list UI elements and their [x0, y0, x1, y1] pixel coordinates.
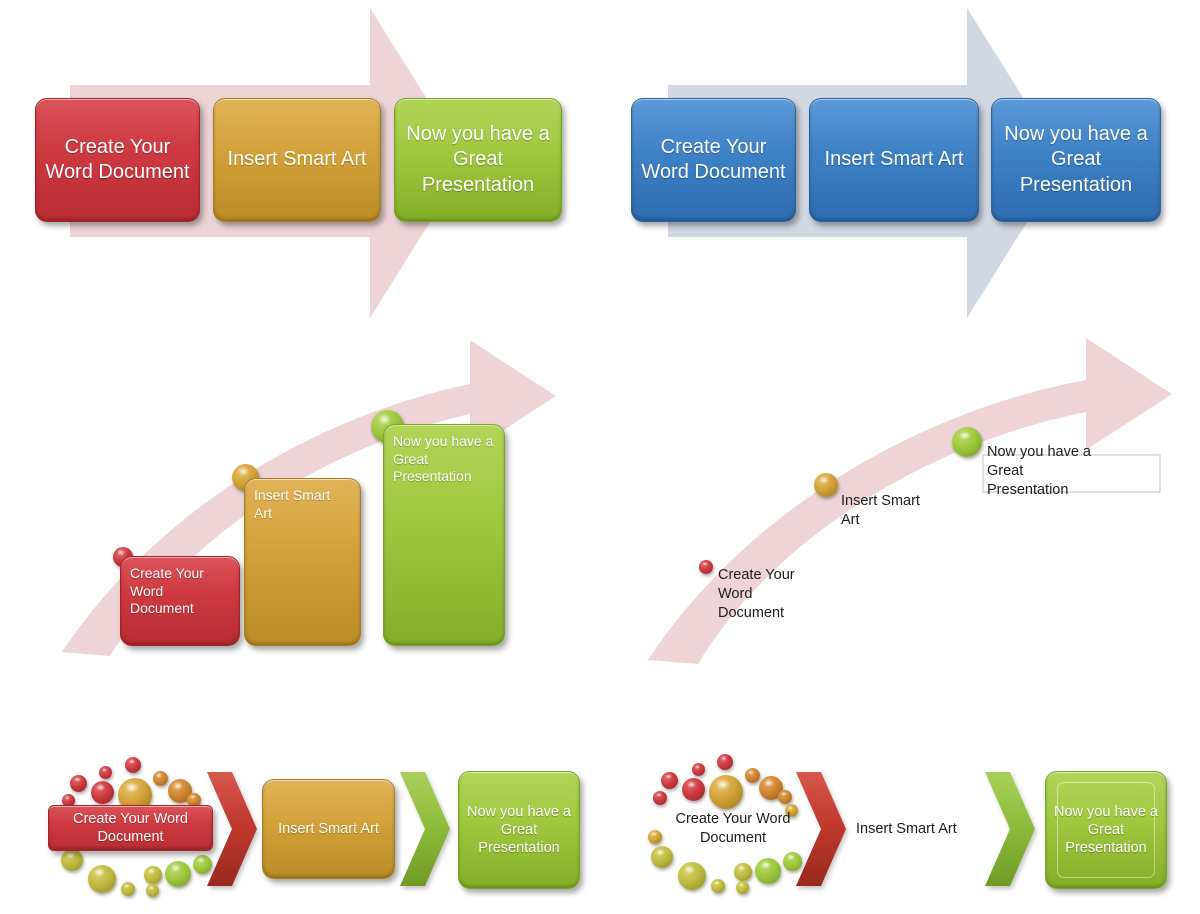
bubble-r-red-d [653, 791, 667, 805]
bubble-r-olive-e [736, 881, 749, 894]
bubble-r-olive-b [678, 862, 706, 890]
bubble-r-olive-a [651, 846, 673, 868]
bubble-r-red-b [717, 754, 733, 770]
bubble-r-red-c [661, 772, 678, 789]
chevron-plain-label-step2: Insert Smart Art [856, 820, 986, 839]
bubble-r-red-e [682, 778, 705, 801]
bubble-r-green-a [755, 858, 781, 884]
bubble-r-olive-c [711, 879, 725, 893]
bubble-r-olive-d [734, 863, 752, 881]
bubble-r-green-b [783, 852, 802, 871]
bubble-r-orange-a [745, 768, 760, 783]
chevron-plain-label-step1: Create Your Word Document [653, 810, 813, 848]
bubble-r-red-a [692, 763, 705, 776]
bubble-r-orange-c [778, 790, 792, 804]
chevron-box-right-step3-label: Now you have a Great Presentation [1052, 803, 1160, 858]
bubble-r-gold-a [709, 775, 743, 809]
chevron-box-right-step3[interactable]: Now you have a Great Presentation [1045, 771, 1167, 889]
panel-bottom-right: Create Your Word Document Insert Smart A… [0, 0, 1200, 914]
